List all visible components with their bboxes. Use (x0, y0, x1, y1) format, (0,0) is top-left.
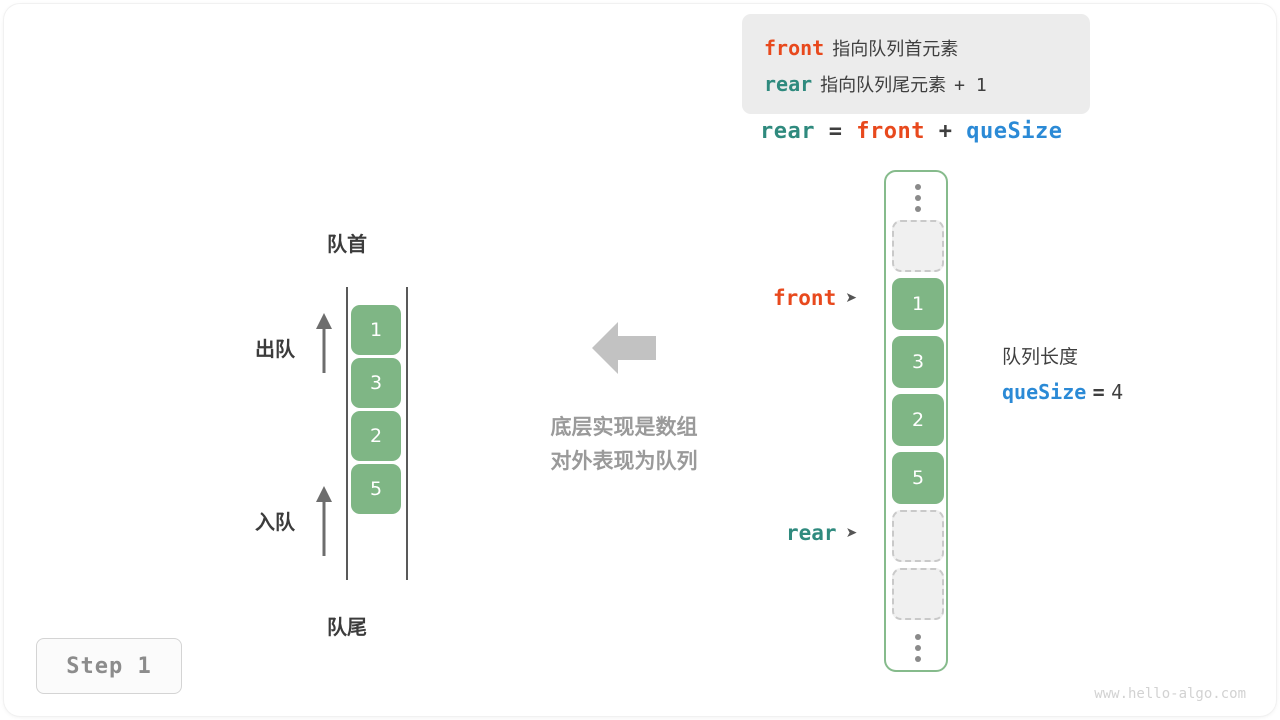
front-pointer-text: front (773, 286, 836, 310)
queue-rail-right (406, 287, 408, 580)
array-slot-rear (892, 510, 944, 562)
array-slot-value: 3 (912, 351, 924, 373)
legend-box: front指向队列首元素 rear指向队列尾元素+ 1 (742, 14, 1090, 114)
queue-size-title: 队列长度 (1002, 342, 1123, 369)
queue-size-expression: queSize = 4 (1002, 380, 1123, 404)
rear-pointer-arrow-icon: ➤ (846, 525, 858, 541)
queue-tail-label: 队尾 (327, 611, 367, 640)
legend-front-desc: 指向队列首元素 (832, 39, 958, 60)
dequeue-label: 出队 (255, 333, 295, 362)
legend-rear-desc: 指向队列尾元素 (820, 75, 946, 96)
queue-cell-0: 1 (351, 305, 401, 355)
formula-lhs: rear (760, 119, 815, 144)
legend-front-key: front (764, 36, 824, 60)
queue-size-note: 队列长度 queSize = 4 (1002, 342, 1123, 404)
formula-rear-equation: rear = front + queSize (760, 119, 1062, 144)
queue-cell-value: 1 (370, 319, 382, 341)
queue-size-var: queSize (1002, 380, 1086, 404)
array-slot-value: 2 (912, 409, 924, 431)
legend-row-rear: rear指向队列尾元素+ 1 (764, 71, 987, 97)
array-slot-value: 5 (912, 467, 924, 489)
queue-size-equals: = (1093, 380, 1105, 404)
array-slot-4: 5 (892, 452, 944, 504)
enqueue-label: 入队 (255, 506, 295, 535)
array-slot-empty-bottom (892, 568, 944, 620)
transform-arrow-icon (592, 320, 656, 376)
queue-cell-3: 5 (351, 464, 401, 514)
queue-head-label: 队首 (327, 228, 367, 257)
enqueue-arrow-icon (313, 486, 335, 558)
center-note-line-1: 底层实现是数组 (551, 410, 698, 444)
rear-pointer-label: rear ➤ (786, 521, 857, 545)
array-slot-empty-top (892, 220, 944, 272)
queue-size-value: 4 (1111, 380, 1123, 404)
array-slot-2: 3 (892, 336, 944, 388)
queue-cell-value: 3 (370, 372, 382, 394)
legend-row-front: front指向队列首元素 (764, 35, 958, 61)
formula-equals: = (829, 119, 843, 144)
queue-cell-value: 5 (370, 478, 382, 500)
array-container: 1 3 2 5 (884, 170, 948, 672)
array-bottom-ellipsis-icon (892, 628, 944, 668)
formula-plus: + (939, 119, 953, 144)
front-pointer-arrow-icon: ➤ (845, 290, 857, 306)
legend-rear-key: rear (764, 72, 812, 96)
dequeue-arrow-icon (313, 313, 335, 375)
center-note-line-2: 对外表现为队列 (551, 444, 698, 478)
diagram-canvas: front指向队列首元素 rear指向队列尾元素+ 1 rear = front… (0, 0, 1280, 720)
watermark: www.hello-algo.com (1094, 686, 1246, 702)
formula-quesize: queSize (966, 119, 1062, 144)
front-pointer-label: front ➤ (773, 286, 857, 310)
center-explanation: 底层实现是数组 对外表现为队列 (551, 410, 698, 478)
array-slot-value: 1 (912, 293, 924, 315)
queue-rail-left (346, 287, 348, 580)
array-slot-3: 2 (892, 394, 944, 446)
rear-pointer-text: rear (786, 521, 837, 545)
array-slot-front: 1 (892, 278, 944, 330)
queue-cell-1: 3 (351, 358, 401, 408)
queue-cell-2: 2 (351, 411, 401, 461)
formula-front: front (856, 119, 925, 144)
step-badge: Step 1 (36, 638, 182, 694)
array-top-ellipsis-icon (892, 178, 944, 218)
legend-rear-tail: + 1 (954, 75, 987, 96)
queue-cell-value: 2 (370, 425, 382, 447)
